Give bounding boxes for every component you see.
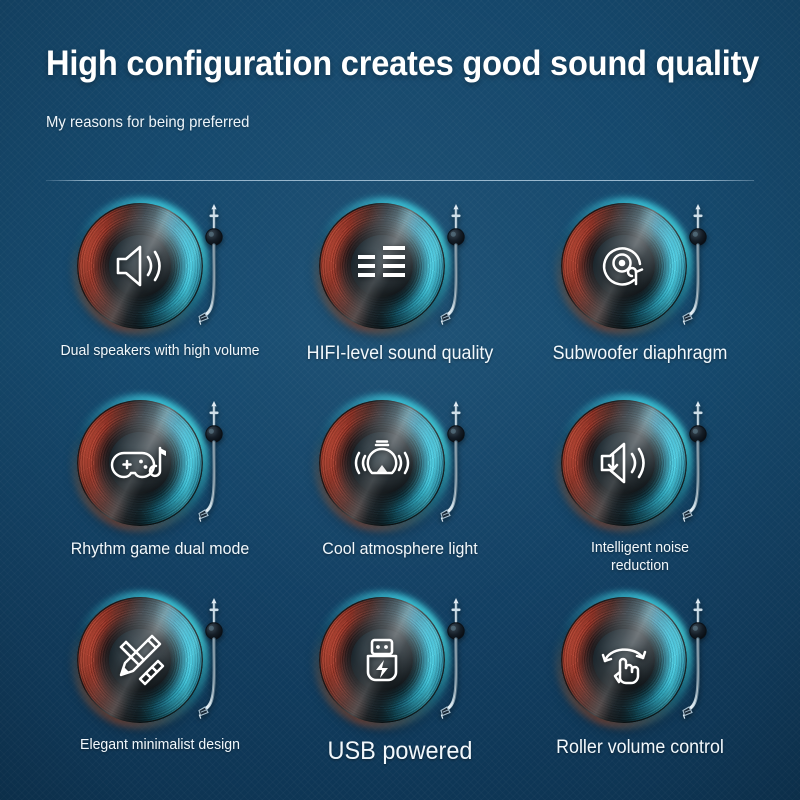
vinyl-record xyxy=(561,400,687,526)
speaker-volume-icon xyxy=(108,234,172,298)
tonearm-icon xyxy=(197,200,231,332)
infographic-page: High configuration creates good sound qu… xyxy=(0,0,800,800)
subwoofer-diaphragm-icon xyxy=(592,234,656,298)
tonearm-icon xyxy=(197,397,231,529)
pencil-ruler-icon xyxy=(108,628,172,692)
turntable-graphic xyxy=(319,393,481,533)
feature-grid: Dual speakers with high volume xyxy=(40,196,760,787)
feature-card[interactable]: Cool atmosphere light xyxy=(280,393,520,590)
turntable-graphic xyxy=(561,196,723,336)
page-subtitle: My reasons for being preferred xyxy=(46,114,704,132)
vinyl-record xyxy=(319,400,445,526)
feature-label: USB powered xyxy=(287,736,513,767)
tonearm-icon xyxy=(681,200,715,332)
vinyl-record xyxy=(561,203,687,329)
vinyl-record xyxy=(77,597,203,723)
noise-reduction-icon xyxy=(592,431,656,495)
equalizer-icon xyxy=(350,234,414,298)
tonearm-icon xyxy=(439,397,473,529)
turntable-graphic xyxy=(561,590,723,730)
light-bulb-icon xyxy=(350,431,414,495)
feature-label: Dual speakers with high volume xyxy=(47,342,273,360)
tonearm-icon xyxy=(681,594,715,726)
vinyl-record xyxy=(319,597,445,723)
turntable-graphic xyxy=(561,393,723,533)
feature-card[interactable]: Rhythm game dual mode xyxy=(40,393,280,590)
feature-label: Rhythm game dual mode xyxy=(47,539,273,560)
feature-label: Elegant minimalist design xyxy=(47,736,273,754)
feature-card[interactable]: Intelligent noise reduction xyxy=(520,393,760,590)
feature-label: Intelligent noise reduction xyxy=(527,539,753,576)
vinyl-record xyxy=(319,203,445,329)
feature-label: Cool atmosphere light xyxy=(287,539,513,560)
turntable-graphic xyxy=(319,196,481,336)
gamepad-music-icon xyxy=(108,431,172,495)
turntable-graphic xyxy=(77,590,239,730)
turntable-graphic xyxy=(77,393,239,533)
usb-power-icon xyxy=(350,628,414,692)
vinyl-record xyxy=(77,400,203,526)
feature-card[interactable]: Roller volume control xyxy=(520,590,760,787)
feature-card[interactable]: Subwoofer diaphragm xyxy=(520,196,760,393)
feature-card[interactable]: Dual speakers with high volume xyxy=(40,196,280,393)
header-divider xyxy=(46,180,754,181)
tonearm-icon xyxy=(197,594,231,726)
tonearm-icon xyxy=(439,200,473,332)
tonearm-icon xyxy=(439,594,473,726)
turntable-graphic xyxy=(77,196,239,336)
hand-rotate-icon xyxy=(592,628,656,692)
vinyl-record xyxy=(561,597,687,723)
tonearm-icon xyxy=(681,397,715,529)
page-title: High configuration creates good sound qu… xyxy=(46,44,704,83)
feature-card[interactable]: HIFI-level sound quality xyxy=(280,196,520,393)
turntable-graphic xyxy=(319,590,481,730)
feature-label: Subwoofer diaphragm xyxy=(527,342,753,365)
feature-label: Roller volume control xyxy=(527,736,753,759)
feature-card[interactable]: USB powered xyxy=(280,590,520,787)
header: High configuration creates good sound qu… xyxy=(46,44,754,132)
feature-label: HIFI-level sound quality xyxy=(287,342,513,365)
feature-card[interactable]: Elegant minimalist design xyxy=(40,590,280,787)
vinyl-record xyxy=(77,203,203,329)
